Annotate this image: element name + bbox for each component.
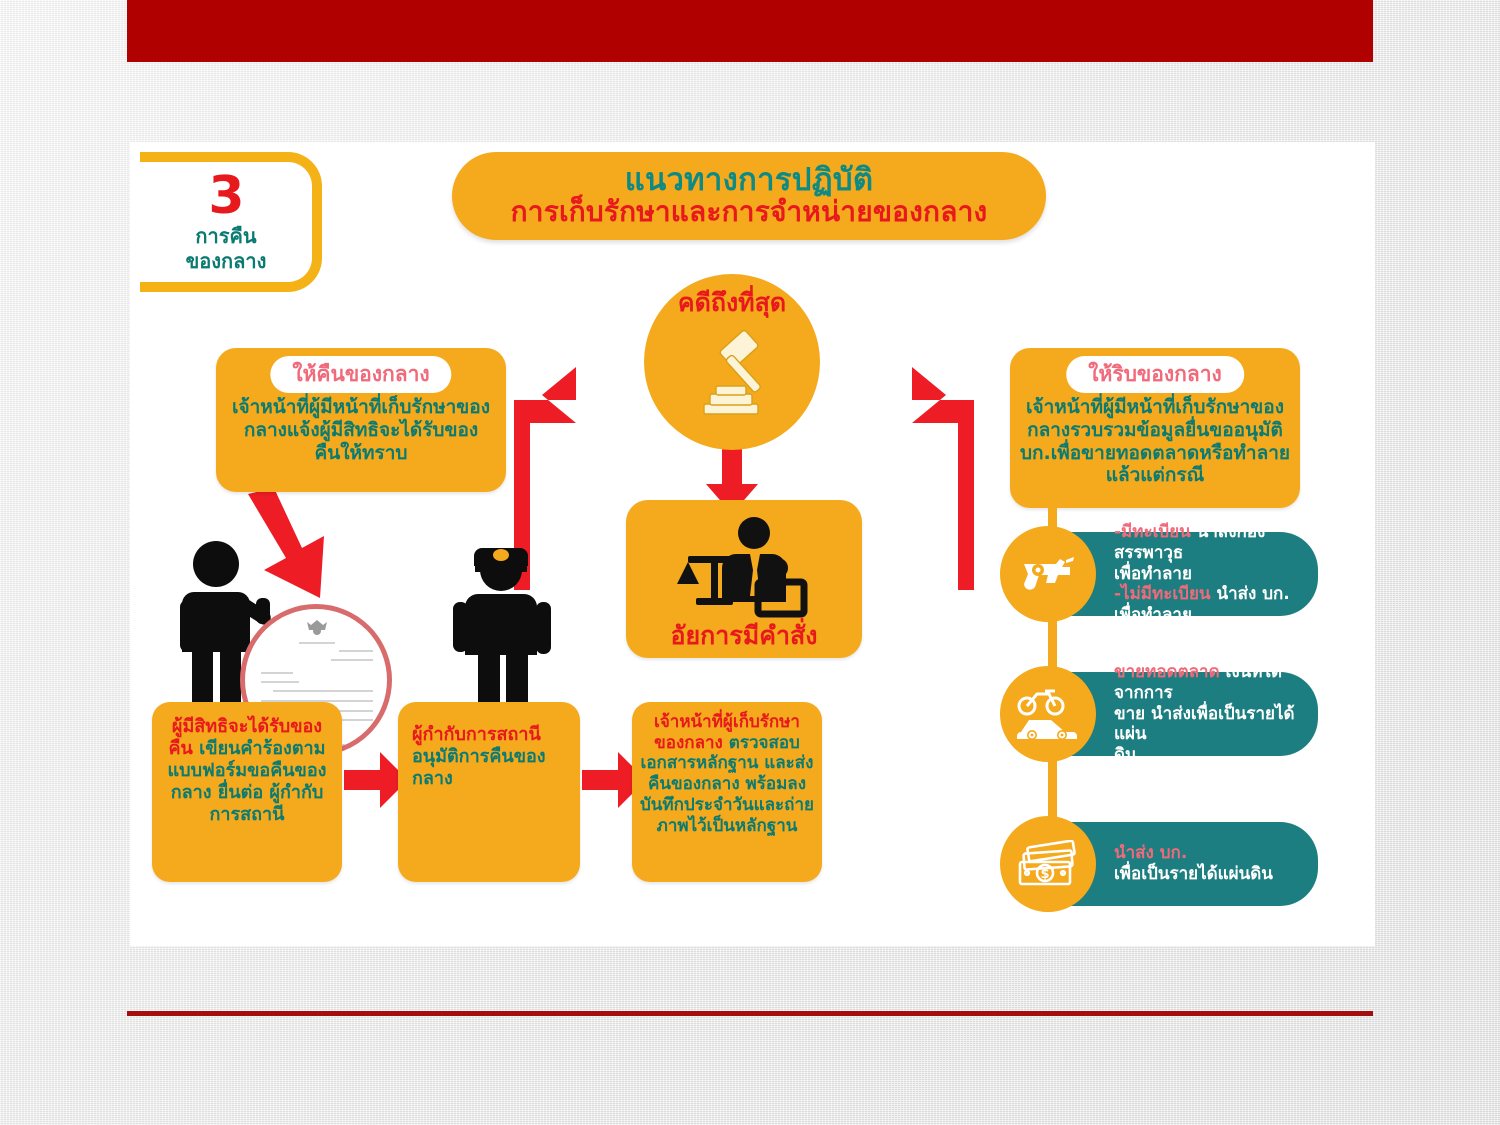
svg-text:$: $ <box>1040 867 1049 882</box>
motorcycle-car-icon <box>1000 666 1096 762</box>
return-branch-body: เจ้าหน้าที่ผู้มีหน้าที่เก็บรักษาของกลางแ… <box>224 396 498 464</box>
badge-number: 3 <box>208 170 243 222</box>
weapon-l3-rest: นำส่ง บก. <box>1211 584 1290 604</box>
badge-label-line2: ของกลาง <box>186 249 267 274</box>
step-owner-request: ผู้มีสิทธิจะได้รับของคืน เขียนคำร้องตามแ… <box>152 702 342 882</box>
arrow-prosecutor-to-forfeit <box>862 367 974 590</box>
weapon-l2-rest: เพื่อทำลาย <box>1114 564 1192 584</box>
case-final-node: คดีถึงที่สุด <box>644 274 820 450</box>
slide-header-bar <box>127 0 1373 62</box>
outcome-auction-text: ขายทอดตลาด เงินที่ได้จากการ ขาย นำส่งเพื… <box>1114 662 1318 766</box>
return-branch-pill: ให้คืนของกลาง <box>270 356 451 393</box>
revolver-icon <box>1000 526 1096 622</box>
weapon-l4-rest: เพื่อทำลาย <box>1114 605 1192 625</box>
outcome-revenue-text: นำส่ง บก. เพื่อเป็นรายได้แผ่นดิน <box>1114 843 1287 884</box>
title-line1: แนวทางการปฏิบัติ <box>625 164 874 197</box>
outcome-weapon-text: -มีทะเบียน นำส่งกองสรรพาวุธ เพื่อทำลาย -… <box>1114 522 1318 626</box>
prosecutor-order-box: อัยการมีคำสั่ง <box>626 500 862 658</box>
infographic-card: 3 การคืน ของกลาง แนวทางการปฏิบัติ การเก็… <box>130 142 1375 946</box>
forfeit-branch-box: ให้ริบของกลาง เจ้าหน้าที่ผู้มีหน้าที่เก็… <box>1010 348 1300 508</box>
page-title: แนวทางการปฏิบัติ การเก็บรักษาและการจำหน่… <box>452 152 1046 240</box>
step-officer-verify: เจ้าหน้าที่ผู้เก็บรักษาของกลาง ตรวจสอบเอ… <box>632 702 822 882</box>
auction-l2-rest: ขาย นำส่งเพื่อเป็นรายได้แผ่น <box>1114 704 1295 745</box>
auction-l3-rest: ดิน <box>1114 745 1137 765</box>
banknotes-icon: $ <box>1000 816 1096 912</box>
forfeit-branch-body: เจ้าหน้าที่ผู้มีหน้าที่เก็บรักษาของกลางร… <box>1018 396 1292 487</box>
weapon-l3-hl: -ไม่มีทะเบียน <box>1114 584 1211 604</box>
return-branch-box: ให้คืนของกลาง เจ้าหน้าที่ผู้มีหน้าที่เก็… <box>216 348 506 492</box>
section-number-badge: 3 การคืน ของกลาง <box>140 152 322 292</box>
outcome-weapon-destroy: -มีทะเบียน นำส่งกองสรรพาวุธ เพื่อทำลาย -… <box>1018 532 1318 616</box>
prosecutor-scales-icon <box>674 516 816 626</box>
revenue-l1-hl: นำส่ง บก. <box>1114 843 1187 863</box>
gavel-icon <box>682 330 786 430</box>
prosecutor-order-label: อัยการมีคำสั่ง <box>671 623 818 648</box>
badge-label-line1: การคืน <box>195 224 256 249</box>
step-chief-highlight: ผู้กำกับการสถานี <box>412 724 541 745</box>
title-line2: การเก็บรักษาและการจำหน่ายของกลาง <box>511 197 988 228</box>
weapon-l1-hl: -มีทะเบียน <box>1114 522 1191 542</box>
police-officer-silhouette-icon <box>448 540 554 712</box>
slide-footer-rule <box>127 1011 1373 1016</box>
outcome-vehicle-auction: ขายทอดตลาด เงินที่ได้จากการ ขาย นำส่งเพื… <box>1018 672 1318 756</box>
case-final-label: คดีถึงที่สุด <box>678 290 786 315</box>
outcome-money-revenue: $ นำส่ง บก. เพื่อเป็นรายได้แผ่นดิน <box>1018 822 1318 906</box>
step-chief-approve: ผู้กำกับการสถานีอนุมัติการคืนของกลาง <box>398 702 580 882</box>
forfeit-branch-pill: ให้ริบของกลาง <box>1066 356 1244 393</box>
revenue-l2-rest: เพื่อเป็นรายได้แผ่นดิน <box>1114 864 1273 884</box>
auction-l1-hl: ขายทอดตลาด <box>1114 662 1220 682</box>
step-chief-rest: อนุมัติการคืนของกลาง <box>412 746 546 789</box>
